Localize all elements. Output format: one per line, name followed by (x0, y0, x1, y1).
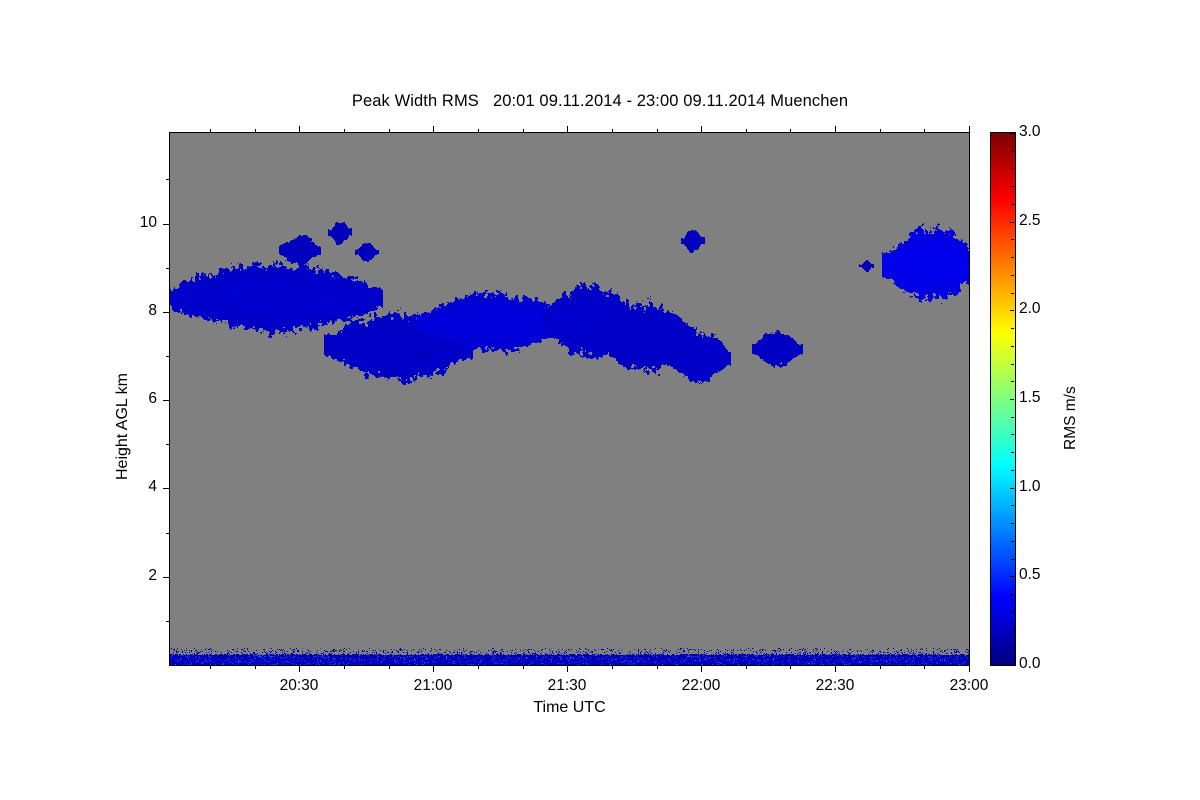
x-tick-minor-top (210, 129, 211, 133)
chart-figure: Peak Width RMS 20:01 09.11.2014 - 23:00 … (0, 0, 1200, 800)
colorbar-tick-minor (1011, 381, 1014, 382)
y-axis-label: Height AGL km (114, 373, 132, 480)
x-tick-minor-top (523, 129, 524, 133)
x-tick-minor-top (255, 129, 256, 133)
x-tick-minor-top (746, 129, 747, 133)
colorbar-tick-minor (1011, 417, 1014, 418)
x-tick-minor-top (924, 129, 925, 133)
y-tick-minor (166, 356, 170, 357)
colorbar-tick-minor (1011, 612, 1014, 613)
x-tick-minor (210, 665, 211, 669)
y-tick-major (163, 312, 170, 313)
x-tick-major (969, 665, 970, 672)
y-tick-major (163, 224, 170, 225)
colorbar-tick-minor (1011, 239, 1014, 240)
page-title: Peak Width RMS 20:01 09.11.2014 - 23:00 … (0, 92, 1200, 111)
colorbar-tick-minor (1011, 470, 1014, 471)
x-tick-major-top (299, 126, 300, 133)
colorbar-tick-minor (1011, 257, 1014, 258)
colorbar-tick-label: 0.0 (1019, 655, 1041, 673)
x-tick-major (701, 665, 702, 672)
x-tick-minor (880, 665, 881, 669)
x-tick-minor (478, 665, 479, 669)
heatmap-plot-area[interactable] (169, 132, 970, 666)
x-tick-minor (924, 665, 925, 669)
x-tick-major-top (433, 126, 434, 133)
colorbar-tick-minor (1011, 541, 1014, 542)
y-tick-minor (166, 621, 170, 622)
x-tick-label: 21:00 (383, 677, 483, 695)
x-tick-major (299, 665, 300, 672)
y-tick-major (163, 400, 170, 401)
x-tick-label: 20:30 (249, 677, 349, 695)
colorbar-tick-minor (1011, 523, 1014, 524)
colorbar-tick-minor (1011, 364, 1014, 365)
colorbar-tick-label: 1.5 (1019, 389, 1041, 407)
x-tick-minor (612, 665, 613, 669)
colorbar-tick-minor (1011, 186, 1014, 187)
colorbar-tick-major (1010, 665, 1014, 666)
colorbar-tick-major (1010, 576, 1014, 577)
x-tick-minor (389, 665, 390, 669)
y-tick-minor (166, 179, 170, 180)
y-tick-label: 4 (110, 478, 157, 496)
colorbar-tick-label: 2.0 (1019, 300, 1041, 318)
colorbar-tick-label: 2.5 (1019, 212, 1041, 230)
x-tick-minor-top (344, 129, 345, 133)
colorbar-tick-minor (1011, 505, 1014, 506)
colorbar-tick-minor (1011, 559, 1014, 560)
heatmap-canvas[interactable] (170, 133, 969, 665)
colorbar-tick-minor (1011, 204, 1014, 205)
x-axis-label: Time UTC (170, 699, 969, 717)
colorbar-tick-major (1010, 133, 1014, 134)
x-tick-major-top (835, 126, 836, 133)
x-tick-minor (255, 665, 256, 669)
x-tick-label: 22:00 (651, 677, 751, 695)
x-tick-major (835, 665, 836, 672)
x-tick-minor (523, 665, 524, 669)
y-tick-major (163, 577, 170, 578)
colorbar-tick-minor (1011, 275, 1014, 276)
colorbar-tick-minor (1011, 452, 1014, 453)
x-tick-label: 23:00 (919, 677, 1019, 695)
x-tick-minor-top (880, 129, 881, 133)
x-tick-major-top (701, 126, 702, 133)
x-tick-major-top (567, 126, 568, 133)
colorbar-tick-minor (1011, 647, 1014, 648)
colorbar-label: RMS m/s (1062, 386, 1080, 450)
x-tick-minor-top (612, 129, 613, 133)
y-tick-minor (166, 268, 170, 269)
y-tick-minor (166, 444, 170, 445)
x-tick-major-top (969, 126, 970, 133)
x-tick-label: 21:30 (517, 677, 617, 695)
colorbar-tick-label: 1.0 (1019, 478, 1041, 496)
x-tick-minor-top (389, 129, 390, 133)
x-tick-minor-top (657, 129, 658, 133)
y-tick-minor (166, 533, 170, 534)
colorbar-tick-label: 3.0 (1019, 123, 1041, 141)
x-tick-major (433, 665, 434, 672)
y-tick-label: 10 (110, 214, 157, 232)
x-tick-label: 22:30 (785, 677, 885, 695)
colorbar-tick-major (1010, 399, 1014, 400)
colorbar-tick-minor (1011, 293, 1014, 294)
colorbar-tick-minor (1011, 434, 1014, 435)
x-tick-minor-top (478, 129, 479, 133)
colorbar-tick-label: 0.5 (1019, 566, 1041, 584)
x-tick-major (567, 665, 568, 672)
x-tick-minor-top (790, 129, 791, 133)
colorbar-tick-major (1010, 488, 1014, 489)
x-tick-minor (344, 665, 345, 669)
colorbar-tick-minor (1011, 328, 1014, 329)
x-tick-minor (790, 665, 791, 669)
y-tick-label: 8 (110, 302, 157, 320)
colorbar-tick-major (1010, 310, 1014, 311)
colorbar-tick-minor (1011, 594, 1014, 595)
x-tick-minor (746, 665, 747, 669)
colorbar-tick-minor (1011, 630, 1014, 631)
y-tick-label: 2 (110, 567, 157, 585)
colorbar-tick-minor (1011, 151, 1014, 152)
y-tick-major (163, 488, 170, 489)
x-tick-minor (657, 665, 658, 669)
colorbar-tick-minor (1011, 346, 1014, 347)
colorbar-tick-major (1010, 222, 1014, 223)
colorbar-tick-minor (1011, 168, 1014, 169)
